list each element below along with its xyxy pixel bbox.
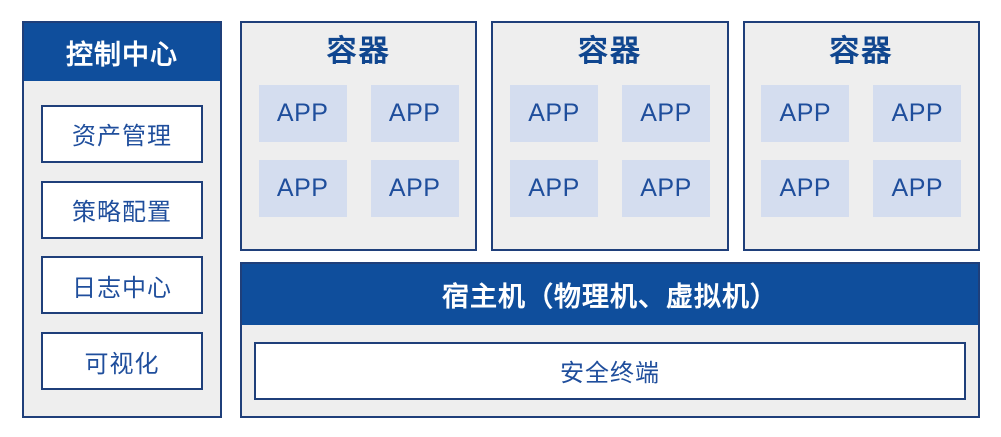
- app-box[interactable]: APP: [622, 160, 710, 217]
- control-item-log-center[interactable]: 日志中心: [41, 256, 203, 314]
- control-item-label: 策略配置: [72, 192, 172, 227]
- right-column: 容器 APP APP APP APP 容器 APP APP APP APP: [240, 21, 980, 418]
- app-box[interactable]: APP: [259, 160, 347, 217]
- control-item-label: 资产管理: [72, 116, 172, 151]
- control-center-panel: 控制中心 资产管理 策略配置 日志中心 可视化: [22, 21, 222, 418]
- app-box[interactable]: APP: [259, 85, 347, 142]
- app-box[interactable]: APP: [371, 160, 459, 217]
- security-terminal-box[interactable]: 安全终端: [254, 342, 966, 400]
- container-title: 容器: [327, 37, 391, 67]
- architecture-diagram: 控制中心 资产管理 策略配置 日志中心 可视化 容器 APP APP: [0, 0, 1001, 437]
- container-title: 容器: [578, 37, 642, 67]
- control-item-asset-management[interactable]: 资产管理: [41, 105, 203, 163]
- control-item-label: 日志中心: [72, 268, 172, 303]
- app-box[interactable]: APP: [371, 85, 459, 142]
- control-item-visualization[interactable]: 可视化: [41, 332, 203, 390]
- container-box-3: 容器 APP APP APP APP: [743, 21, 980, 251]
- control-center-item-list: 资产管理 策略配置 日志中心 可视化: [24, 81, 220, 416]
- app-box[interactable]: APP: [510, 160, 598, 217]
- app-box[interactable]: APP: [761, 160, 849, 217]
- container-box-2: 容器 APP APP APP APP: [491, 21, 728, 251]
- host-machine-section: 宿主机（物理机、虚拟机） 安全终端: [240, 262, 980, 418]
- control-item-label: 可视化: [85, 344, 160, 379]
- container-box-1: 容器 APP APP APP APP: [240, 21, 477, 251]
- control-item-policy-config[interactable]: 策略配置: [41, 181, 203, 239]
- control-center-header: 控制中心: [24, 23, 220, 81]
- containers-row: 容器 APP APP APP APP 容器 APP APP APP APP: [240, 21, 980, 251]
- host-machine-header: 宿主机（物理机、虚拟机）: [242, 264, 978, 325]
- app-grid: APP APP APP APP: [510, 85, 710, 217]
- app-box[interactable]: APP: [622, 85, 710, 142]
- app-box[interactable]: APP: [873, 85, 961, 142]
- app-grid: APP APP APP APP: [761, 85, 961, 217]
- app-box[interactable]: APP: [761, 85, 849, 142]
- host-machine-body: 安全终端: [242, 325, 978, 416]
- app-grid: APP APP APP APP: [259, 85, 459, 217]
- container-title: 容器: [829, 37, 893, 67]
- app-box[interactable]: APP: [510, 85, 598, 142]
- app-box[interactable]: APP: [873, 160, 961, 217]
